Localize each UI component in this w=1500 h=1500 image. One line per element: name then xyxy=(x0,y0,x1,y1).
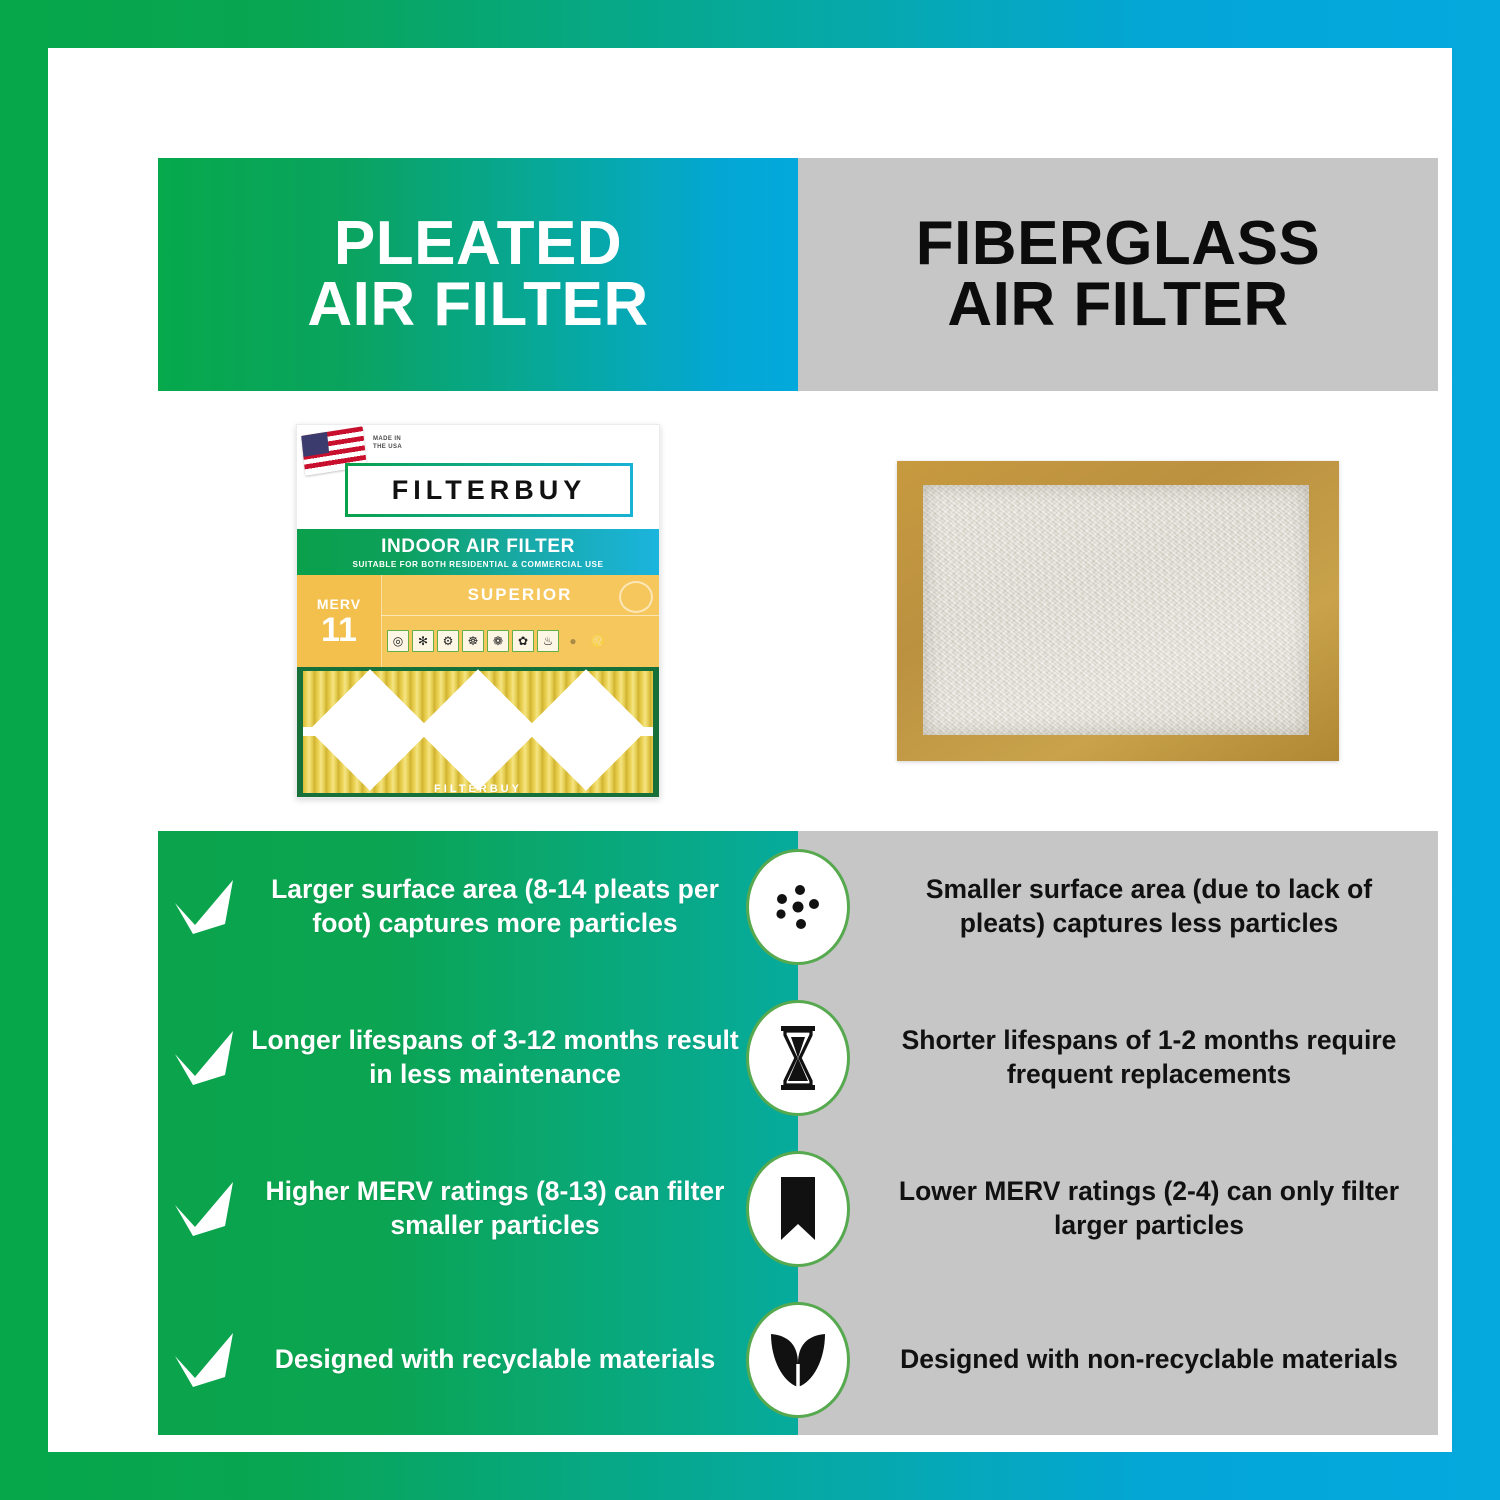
pleated-band-title: INDOOR AIR FILTER xyxy=(381,536,575,558)
merv-label: MERV xyxy=(317,596,361,612)
voc-icon: ♌ xyxy=(587,630,609,652)
tier-row: SUPERIOR xyxy=(381,575,659,616)
comparison-row-right: Shorter lifespans of 1-2 months require … xyxy=(798,982,1438,1133)
merv-badge: MERV 11 xyxy=(297,575,382,667)
header-fiberglass-line1: FIBERGLASS xyxy=(916,209,1321,278)
checkmark-icon xyxy=(158,1029,250,1087)
header-fiberglass-line2: AIR FILTER xyxy=(916,275,1321,336)
outer-gradient-border: PLEATED AIR FILTER FIBERGLASS AIR FILTER xyxy=(0,0,1500,1500)
pleated-merv-section: MERV 11 SUPERIOR ◎ ✻ ⚙ ☸ xyxy=(297,575,659,667)
comparison-row: Higher MERV ratings (8-13) can filter sm… xyxy=(158,1133,1438,1284)
filterbuy-logo: FILTERBUY xyxy=(345,463,633,517)
diamond-support-grid xyxy=(303,671,653,793)
made-in-usa-line1: MADE IN xyxy=(373,435,402,443)
comparison-right-text: Designed with non-recyclable materials xyxy=(798,1343,1438,1376)
header-pleated: PLEATED AIR FILTER xyxy=(158,158,798,391)
leaf-eco-icon xyxy=(746,1302,850,1418)
comparison-row-left: Designed with recyclable materials xyxy=(158,1284,798,1435)
comparison-row: Designed with recyclable materials Desig… xyxy=(158,1284,1438,1435)
checkmark-icon xyxy=(158,878,250,936)
header-fiberglass: FIBERGLASS AIR FILTER xyxy=(798,158,1438,391)
inner-white-card: PLEATED AIR FILTER FIBERGLASS AIR FILTER xyxy=(48,48,1452,1452)
comparison-row: Larger surface area (8-14 pleats per foo… xyxy=(158,831,1438,982)
comparison-row-right: Lower MERV ratings (2-4) can only filter… xyxy=(798,1133,1438,1284)
infographic-stage: PLEATED AIR FILTER FIBERGLASS AIR FILTER xyxy=(158,158,1438,1435)
particles-dots-icon xyxy=(746,849,850,965)
smoke-icon: ♨ xyxy=(537,630,559,652)
fiberglass-filter-image xyxy=(897,461,1339,761)
fiberglass-media-texture xyxy=(923,485,1309,735)
pleated-label-band: INDOOR AIR FILTER SUITABLE FOR BOTH RESI… xyxy=(297,529,659,575)
ul-seal-icon xyxy=(619,581,653,613)
pleated-footer-brand: FILTERBUY xyxy=(297,783,659,795)
pleated-image-cell: MADE IN THE USA FILTERBUY INDOOR AIR FIL… xyxy=(158,391,798,831)
pollen-icon: ✻ xyxy=(412,630,434,652)
header-pleated-title: PLEATED AIR FILTER xyxy=(307,214,648,336)
product-image-row: MADE IN THE USA FILTERBUY INDOOR AIR FIL… xyxy=(158,391,1438,831)
bookmark-ribbon-icon xyxy=(746,1151,850,1267)
comparison-panel: Larger surface area (8-14 pleats per foo… xyxy=(158,831,1438,1435)
dust-icon: ◎ xyxy=(387,630,409,652)
made-in-usa-line2: THE USA xyxy=(373,443,402,451)
comparison-row-right: Smaller surface area (due to lack of ple… xyxy=(798,831,1438,982)
hourglass-icon xyxy=(746,1000,850,1116)
bacteria-icon: ☸ xyxy=(462,630,484,652)
comparison-row-left: Longer lifespans of 3-12 months result i… xyxy=(158,982,798,1133)
pleated-media-view: FILTERBUY xyxy=(297,667,659,797)
comparison-left-text: Designed with recyclable materials xyxy=(250,1343,798,1376)
header-pleated-line2: AIR FILTER xyxy=(307,275,648,336)
pleated-label-top: MADE IN THE USA FILTERBUY xyxy=(297,425,659,529)
comparison-row-left: Larger surface area (8-14 pleats per foo… xyxy=(158,831,798,982)
comparison-row-left: Higher MERV ratings (8-13) can filter sm… xyxy=(158,1133,798,1284)
odor-icon: ● xyxy=(562,630,584,652)
comparison-right-text: Lower MERV ratings (2-4) can only filter… xyxy=(798,1175,1438,1241)
checkmark-icon xyxy=(158,1331,250,1389)
fiberglass-image-cell xyxy=(798,391,1438,831)
comparison-right-text: Shorter lifespans of 1-2 months require … xyxy=(798,1024,1438,1090)
pleated-filter-image: MADE IN THE USA FILTERBUY INDOOR AIR FIL… xyxy=(296,424,660,798)
capability-icon-strip: ◎ ✻ ⚙ ☸ ❁ ✿ ♨ ● ♌ xyxy=(387,617,655,665)
comparison-left-text: Higher MERV ratings (8-13) can filter sm… xyxy=(250,1175,798,1241)
pleated-band-subtitle: SUITABLE FOR BOTH RESIDENTIAL & COMMERCI… xyxy=(353,560,604,569)
mold-spores-icon: ⚙ xyxy=(437,630,459,652)
virus-icon: ❁ xyxy=(487,630,509,652)
filterbuy-logo-text: FILTERBUY xyxy=(392,475,587,506)
comparison-left-text: Longer lifespans of 3-12 months result i… xyxy=(250,1024,798,1090)
tier-label: SUPERIOR xyxy=(468,585,573,605)
header-pleated-line1: PLEATED xyxy=(334,209,622,278)
header-row: PLEATED AIR FILTER FIBERGLASS AIR FILTER xyxy=(158,158,1438,391)
pet-dander-icon: ✿ xyxy=(512,630,534,652)
comparison-right-text: Smaller surface area (due to lack of ple… xyxy=(798,873,1438,939)
made-in-usa-text: MADE IN THE USA xyxy=(373,435,402,451)
header-fiberglass-title: FIBERGLASS AIR FILTER xyxy=(916,214,1321,336)
comparison-row-right: Designed with non-recyclable materials xyxy=(798,1284,1438,1435)
merv-value: 11 xyxy=(321,613,357,647)
checkmark-icon xyxy=(158,1180,250,1238)
comparison-row: Longer lifespans of 3-12 months result i… xyxy=(158,982,1438,1133)
comparison-left-text: Larger surface area (8-14 pleats per foo… xyxy=(250,873,798,939)
